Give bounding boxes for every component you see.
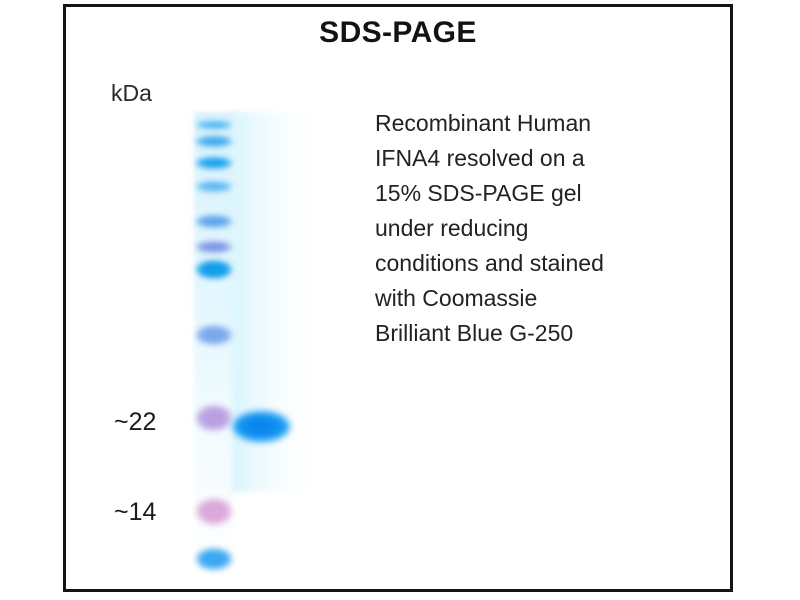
marker-band xyxy=(196,181,232,192)
gel-image xyxy=(186,112,316,580)
marker-band xyxy=(196,215,232,228)
marker-band xyxy=(196,325,232,345)
marker-band xyxy=(196,548,232,570)
sds-page-figure: SDS-PAGE kDa ~22 ~14 Recombinant HumanIF… xyxy=(0,0,800,600)
ifna4-protein-band xyxy=(233,411,290,442)
mw-label-22: ~22 xyxy=(114,408,156,437)
mw-label-14: ~14 xyxy=(114,498,156,527)
marker-band xyxy=(196,498,232,525)
caption-line: IFNA4 resolved on a xyxy=(375,141,675,176)
caption-line: conditions and stained xyxy=(375,246,675,281)
caption-line: Brilliant Blue G-250 xyxy=(375,316,675,351)
axis-label-kda: kDa xyxy=(111,80,152,107)
marker-band xyxy=(196,260,232,279)
figure-caption: Recombinant HumanIFNA4 resolved on a15% … xyxy=(375,106,675,351)
caption-line: Recombinant Human xyxy=(375,106,675,141)
marker-band xyxy=(196,157,232,169)
page-title: SDS-PAGE xyxy=(63,16,733,50)
marker-band xyxy=(196,405,232,431)
marker-band xyxy=(196,136,232,147)
caption-line: 15% SDS-PAGE gel xyxy=(375,176,675,211)
marker-band xyxy=(196,121,232,129)
caption-line: with Coomassie xyxy=(375,281,675,316)
caption-line: under reducing xyxy=(375,211,675,246)
marker-band xyxy=(196,241,232,253)
